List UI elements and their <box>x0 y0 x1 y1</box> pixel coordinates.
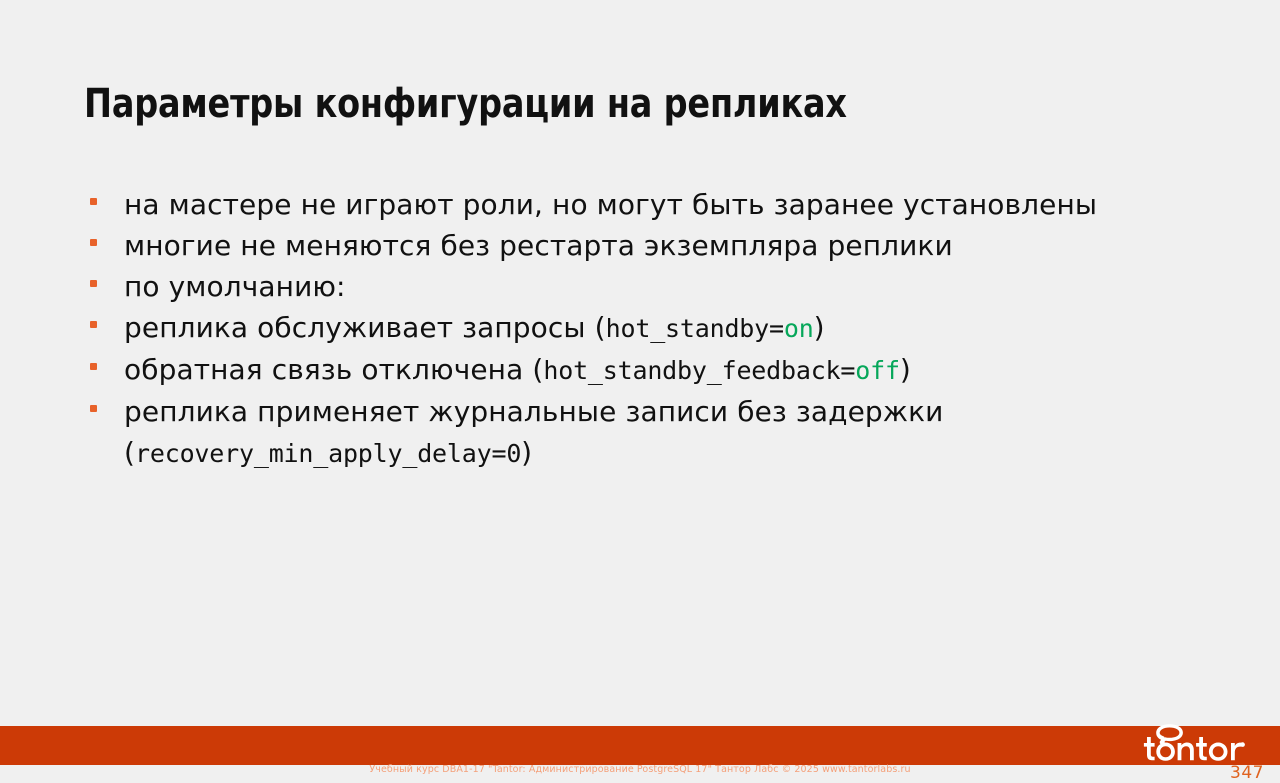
footer-copyright: Учебный курс DBA1-17 "Tantor: Администри… <box>0 763 1280 776</box>
bullet-marker-icon <box>84 239 102 246</box>
list-item-text: реплика обслуживает запросы (hot_standby… <box>124 307 1204 349</box>
bullet-marker-icon <box>84 280 102 287</box>
inline-text: по умолчанию: <box>124 270 346 303</box>
bullet-list: на мастере не играют роли, но могут быть… <box>84 184 1204 474</box>
page-title: Параметры конфигурации на репликах <box>84 81 1107 127</box>
inline-code: hot_standby_feedback= <box>543 356 855 385</box>
inline-text: ) <box>900 353 911 386</box>
list-item: по умолчанию: <box>84 266 1204 307</box>
bullet-marker-icon <box>84 405 102 412</box>
inline-text: на мастере не играют роли, но могут быть… <box>124 188 1097 221</box>
slide: Параметры конфигурации на репликах на ма… <box>0 0 1280 781</box>
inline-text: обратная связь отключена ( <box>124 353 543 386</box>
inline-text: ) <box>814 311 825 344</box>
list-item: на мастере не играют роли, но могут быть… <box>84 184 1204 225</box>
inline-code: recovery_min_apply_delay=0 <box>135 439 521 468</box>
footer-bar <box>0 726 1280 765</box>
inline-text: многие не меняются без рестарта экземпля… <box>124 229 953 262</box>
inline-code-value: off <box>855 356 900 385</box>
page-number: 347 <box>1230 763 1264 783</box>
list-item-text: реплика применяет журнальные записи без … <box>124 391 1204 474</box>
inline-code: hot_standby= <box>606 314 784 343</box>
bullet-marker-icon <box>84 363 102 370</box>
list-item-text: по умолчанию: <box>124 266 1204 307</box>
list-item-text: обратная связь отключена (hot_standby_fe… <box>124 349 1204 391</box>
bullet-marker-icon <box>84 198 102 205</box>
list-item-text: многие не меняются без рестарта экземпля… <box>124 225 1204 266</box>
bullet-marker-icon <box>84 321 102 328</box>
list-item-text: на мастере не играют роли, но могут быть… <box>124 184 1204 225</box>
inline-text: ) <box>521 436 532 469</box>
inline-text: реплика обслуживает запросы ( <box>124 311 606 344</box>
list-item: обратная связь отключена (hot_standby_fe… <box>84 349 1204 391</box>
list-item: реплика обслуживает запросы (hot_standby… <box>84 307 1204 349</box>
inline-code-value: on <box>784 314 814 343</box>
list-item: реплика применяет журнальные записи без … <box>84 391 1204 474</box>
list-item: многие не меняются без рестарта экземпля… <box>84 225 1204 266</box>
tantor-logo <box>1143 722 1253 764</box>
